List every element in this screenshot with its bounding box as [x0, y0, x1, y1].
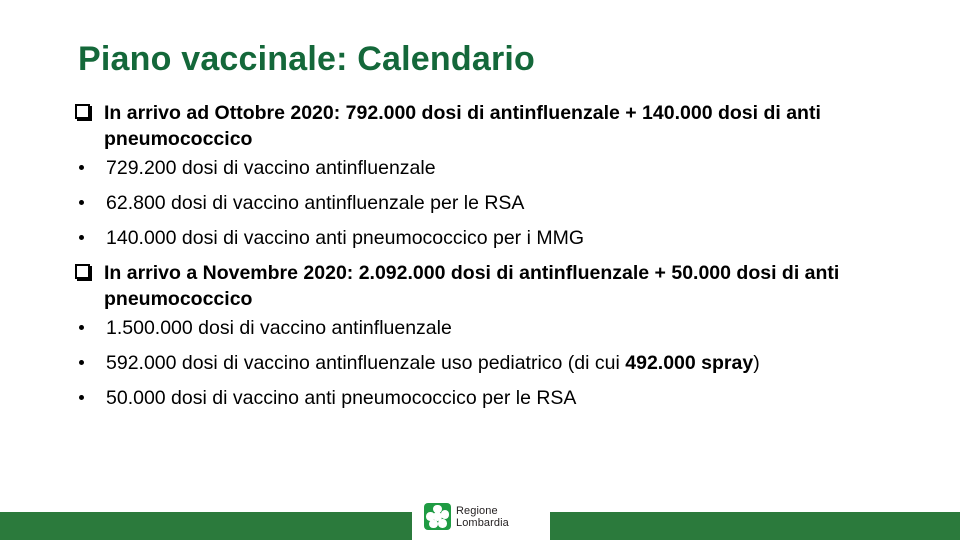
lombardy-rose-icon: [424, 503, 451, 530]
page-title: Piano vaccinale: Calendario: [78, 40, 535, 79]
list-item: 140.000 dosi di vaccino anti pneumococci…: [74, 225, 874, 251]
list-item-label: 1.500.000 dosi di vaccino antinfluenzale: [104, 315, 874, 341]
dot-bullet-icon: [74, 385, 104, 411]
list-item: In arrivo a Novembre 2020: 2.092.000 dos…: [74, 260, 874, 312]
hollow-square-bullet-icon: [74, 100, 104, 126]
slide: Piano vaccinale: Calendario In arrivo ad…: [0, 0, 960, 540]
footer-bar-right: [550, 512, 960, 540]
list-item-label: In arrivo a Novembre 2020: 2.092.000 dos…: [104, 260, 874, 312]
footer-bar-left: [0, 512, 412, 540]
list-item: 62.800 dosi di vaccino antinfluenzale pe…: [74, 190, 874, 216]
list-item-label: 729.200 dosi di vaccino antinfluenzale: [104, 155, 874, 181]
list-item-text-trailing: ): [753, 352, 760, 374]
list-item: 1.500.000 dosi di vaccino antinfluenzale: [74, 315, 874, 341]
list-item-label: 140.000 dosi di vaccino anti pneumococci…: [104, 225, 874, 251]
list-item-label: 62.800 dosi di vaccino antinfluenzale pe…: [104, 190, 874, 216]
logo-line-1: Regione: [456, 505, 509, 517]
bullet-list: In arrivo ad Ottobre 2020: 792.000 dosi …: [74, 100, 874, 420]
hollow-square-bullet-icon: [74, 260, 104, 286]
list-item: 729.200 dosi di vaccino antinfluenzale: [74, 155, 874, 181]
list-item: In arrivo ad Ottobre 2020: 792.000 dosi …: [74, 100, 874, 152]
regione-lombardia-logo: Regione Lombardia: [424, 503, 509, 530]
list-item-label: 50.000 dosi di vaccino anti pneumococcic…: [104, 385, 874, 411]
list-item: 592.000 dosi di vaccino antinfluenzale u…: [74, 350, 874, 376]
dot-bullet-icon: [74, 225, 104, 251]
logo-line-2: Lombardia: [456, 517, 509, 529]
list-item: 50.000 dosi di vaccino anti pneumococcic…: [74, 385, 874, 411]
list-item-text-plain: 592.000 dosi di vaccino antinfluenzale u…: [106, 352, 625, 374]
dot-bullet-icon: [74, 190, 104, 216]
dot-bullet-icon: [74, 315, 104, 341]
dot-bullet-icon: [74, 155, 104, 181]
list-item-label: 592.000 dosi di vaccino antinfluenzale u…: [104, 350, 874, 376]
list-item-label: In arrivo ad Ottobre 2020: 792.000 dosi …: [104, 100, 874, 152]
list-item-text-emphasis: 492.000 spray: [625, 352, 753, 374]
footer: Regione Lombardia: [0, 512, 960, 540]
dot-bullet-icon: [74, 350, 104, 376]
logo-wordmark: Regione Lombardia: [456, 505, 509, 529]
